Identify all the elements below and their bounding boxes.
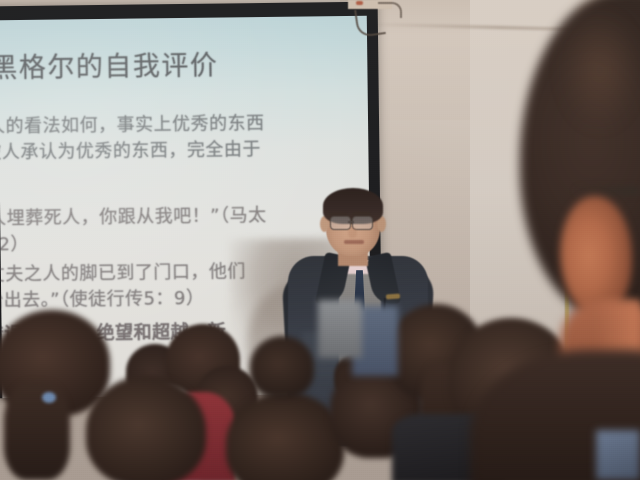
projector-cable-segment — [378, 2, 402, 18]
slide-line-3: 人埋葬死人，你跟从我吧！”（马太 — [0, 201, 267, 230]
slide-title: 黑格尔的自我评价 — [0, 44, 219, 86]
presenter-glasses-bridge — [348, 221, 354, 223]
slide-line-5: 丈夫之人的脚已到了门口，他们 — [0, 257, 246, 286]
presenter-mouth — [344, 240, 364, 244]
slide-line-2: 被人承认为优秀的东西，完全由于 — [0, 135, 261, 164]
foreground-ear — [560, 196, 632, 316]
presenter-eyebrow-left — [330, 212, 347, 215]
foreground-glasses-temple — [572, 186, 640, 196]
audience-head-near-7 — [250, 336, 314, 398]
slide-line-1: 人的看法如何，事实上优秀的东西 — [0, 109, 265, 138]
foreground-head-highlight — [560, 10, 640, 130]
audience-grey-shoulder — [318, 300, 362, 358]
presenter-jacket-logo — [386, 294, 400, 300]
foreground-clothing — [596, 430, 640, 480]
audience-hair-tie — [42, 392, 56, 403]
audience-head-near-3 — [226, 392, 344, 480]
presenter-nose — [348, 227, 357, 238]
audience-head-near-2 — [86, 376, 206, 480]
ceiling-indicator-light — [356, 1, 363, 5]
lecture-photo: 黑格尔的自我评价 人的看法如何，事实上优秀的东西 被人承认为优秀的东西，完全由于… — [0, 0, 640, 480]
slide-line-4: 22） — [0, 230, 29, 257]
audience-ponytail-left — [4, 382, 70, 480]
presenter-eyebrow-right — [353, 212, 370, 215]
